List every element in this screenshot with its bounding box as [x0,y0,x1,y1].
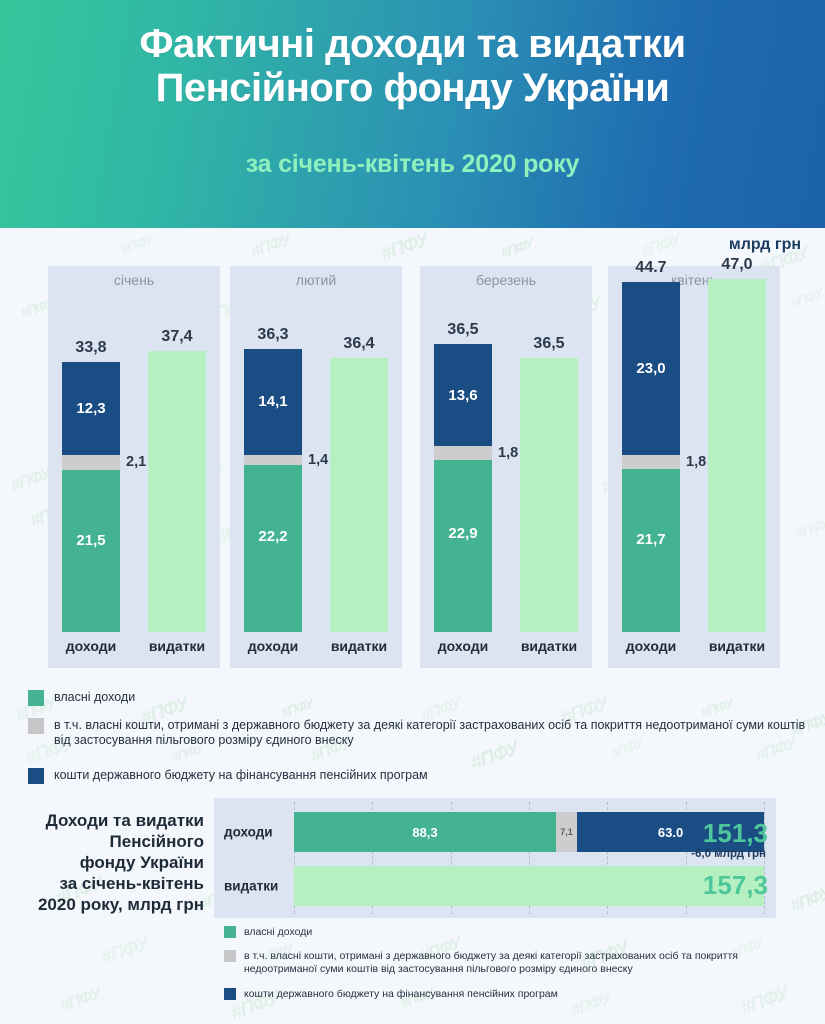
income-segment-budget-transfer: 1,8 [434,446,492,460]
income-axis-label: доходи [434,638,492,654]
income-segment-state-budget-value: 14,1 [258,393,287,410]
summary-section: Доходи та видаткиПенсійногофонду України… [0,796,825,920]
summary-difference: -6,0 млрд грн [691,848,766,860]
expenditure-segment [520,358,578,632]
summary-title-line-1: Доходи та видатки [8,810,204,831]
summary-spend-total: 157,3 [703,870,768,901]
page-subtitle: за січень-квітень 2020 року [246,150,580,179]
expenditure-total-label: 47,0 [708,256,766,274]
summary-row-income-label: доходи [224,825,273,840]
month-panel-1: січень33,812,32,121,5доходи37,4видатки [48,266,220,668]
income-total-label: 36,3 [244,326,302,344]
legend-item-budget-transfer: в т.ч. власні кошти, отримані з державно… [28,718,808,748]
page-title-line-1: Фактичні доходи та видатки [139,22,685,66]
summary-row-income: доходи 88,37,163.0 151,3 [214,812,776,852]
summary-legend-item-budget-transfer: в т.ч. власні кошти, отримані з державно… [224,950,812,976]
income-axis-label: доходи [62,638,120,654]
legend-swatch-green-icon [28,690,44,706]
expenditure-axis-label: видатки [708,638,766,654]
income-total-label: 44.7 [622,259,680,277]
summary-legend-label-budget-transfer: в т.ч. власні кошти, отримані з державно… [244,950,812,976]
income-segment-budget-transfer-value: 1,8 [498,445,518,461]
header-banner: Фактичні доходи та видатки Пенсійного фо… [0,0,825,228]
summary-chart-panel: доходи 88,37,163.0 151,3 -6,0 млрд грн в… [214,798,776,918]
income-segment-state-budget-value: 13,6 [448,387,477,404]
summary-legend-item-state-budget: кошти державного бюджету на фінансування… [224,988,744,1001]
page-title-line-2: Пенсійного фонду України [139,66,685,110]
income-segment-state-budget: 12,3 [62,362,120,454]
summary-income-segment-2: 7,1 [556,812,577,852]
summary-title-line-5: 2020 року, млрд грн [8,894,204,915]
expenditure-segment [708,279,766,632]
summary-legend-swatch-green-icon [224,926,236,938]
summary-income-total: 151,3 [703,818,768,849]
income-total-label: 33,8 [62,339,120,357]
income-segment-budget-transfer-value: 2,1 [126,454,146,470]
unit-label: млрд грн [729,236,801,254]
expenditure-segment [330,358,388,632]
legend-label-own-income: власні доходи [54,690,135,705]
expenditure-axis-label: видатки [148,638,206,654]
summary-legend-label-own-income: власні доходи [244,926,312,939]
expenditure-total-label: 37,4 [148,328,206,346]
legend-swatch-blue-icon [28,768,44,784]
summary-spend-segment-1 [294,866,764,906]
summary-title-line-4: за січень-квітень [8,873,204,894]
expenditure-axis-label: видатки [330,638,388,654]
month-panel-2: лютий36,314,11,422,2доходи36,4видатки [230,266,402,668]
income-segment-state-budget-value: 23,0 [636,360,665,377]
expenditure-bar: 36,4видатки [330,358,388,632]
summary-row-spend-label: видатки [224,879,278,894]
summary-income-segment-1: 88,3 [294,812,556,852]
income-bar: 33,812,32,121,5доходи [62,362,120,632]
income-total-label: 36,5 [434,321,492,339]
month-panel-label: лютий [230,272,402,288]
income-bar: 44.723,01,821,7доходи [622,282,680,632]
income-segment-own-income: 22,9 [434,460,492,632]
income-segment-budget-transfer: 1,4 [244,455,302,466]
expenditure-segment [148,351,206,632]
expenditure-bar: 37,4видатки [148,351,206,632]
income-segment-own-income: 21,7 [622,469,680,632]
income-segment-own-income: 21,5 [62,470,120,632]
income-segment-budget-transfer-value: 1,4 [308,452,328,468]
summary-income-bar: 88,37,163.0 [294,812,764,852]
expenditure-total-label: 36,5 [520,335,578,353]
income-bar: 36,314,11,422,2доходи [244,349,302,632]
legend-label-state-budget: кошти державного бюджету на фінансування… [54,768,428,783]
income-segment-state-budget: 23,0 [622,282,680,455]
income-axis-label: доходи [244,638,302,654]
income-axis-label: доходи [622,638,680,654]
month-panel-label: березень [420,272,592,288]
income-segment-own-income-value: 22,9 [434,525,492,542]
summary-title-line-2: Пенсійного [8,831,204,852]
income-segment-own-income-value: 22,2 [244,528,302,545]
income-segment-budget-transfer: 2,1 [62,455,120,471]
income-segment-budget-transfer-value: 1,8 [686,454,706,470]
month-panel-3: березень36,513,61,822,9доходи36,5видатки [420,266,592,668]
summary-legend-item-own-income: власні доходи [224,926,644,939]
summary-title: Доходи та видаткиПенсійногофонду України… [8,810,204,915]
income-segment-own-income-value: 21,7 [622,531,680,548]
income-segment-state-budget: 14,1 [244,349,302,455]
summary-legend-swatch-gray-icon [224,950,236,962]
legend-item-own-income: власні доходи [28,690,628,706]
summary-spend-bar [294,866,764,906]
summary-title-line-3: фонду України [8,852,204,873]
income-segment-own-income-value: 21,5 [62,532,120,549]
income-bar: 36,513,61,822,9доходи [434,344,492,632]
legend-swatch-gray-icon [28,718,44,734]
income-segment-budget-transfer: 1,8 [622,455,680,469]
expenditure-total-label: 36,4 [330,335,388,353]
expenditure-bar: 36,5видатки [520,358,578,632]
income-segment-state-budget-value: 12,3 [76,400,105,417]
month-panel-4: квітень44.723,01,821,7доходи47,0видатки [608,266,780,668]
month-panel-label: січень [48,272,220,288]
summary-legend: власні доходи в т.ч. власні кошти, отрим… [0,922,825,1022]
chart-legend: власні доходи в т.ч. власні кошти, отрим… [0,686,825,794]
summary-row-spend: видатки 157,3 [214,866,776,906]
summary-legend-label-state-budget: кошти державного бюджету на фінансування… [244,988,558,1001]
income-segment-own-income: 22,2 [244,465,302,632]
monthly-chart-area: млрд грн січень33,812,32,121,5доходи37,4… [0,228,825,680]
income-segment-state-budget: 13,6 [434,344,492,446]
page-title: Фактичні доходи та видатки Пенсійного фо… [139,22,685,110]
legend-label-budget-transfer: в т.ч. власні кошти, отримані з державно… [54,718,808,748]
summary-legend-swatch-blue-icon [224,988,236,1000]
expenditure-bar: 47,0видатки [708,279,766,632]
legend-item-state-budget: кошти державного бюджету на фінансування… [28,768,728,784]
expenditure-axis-label: видатки [520,638,578,654]
